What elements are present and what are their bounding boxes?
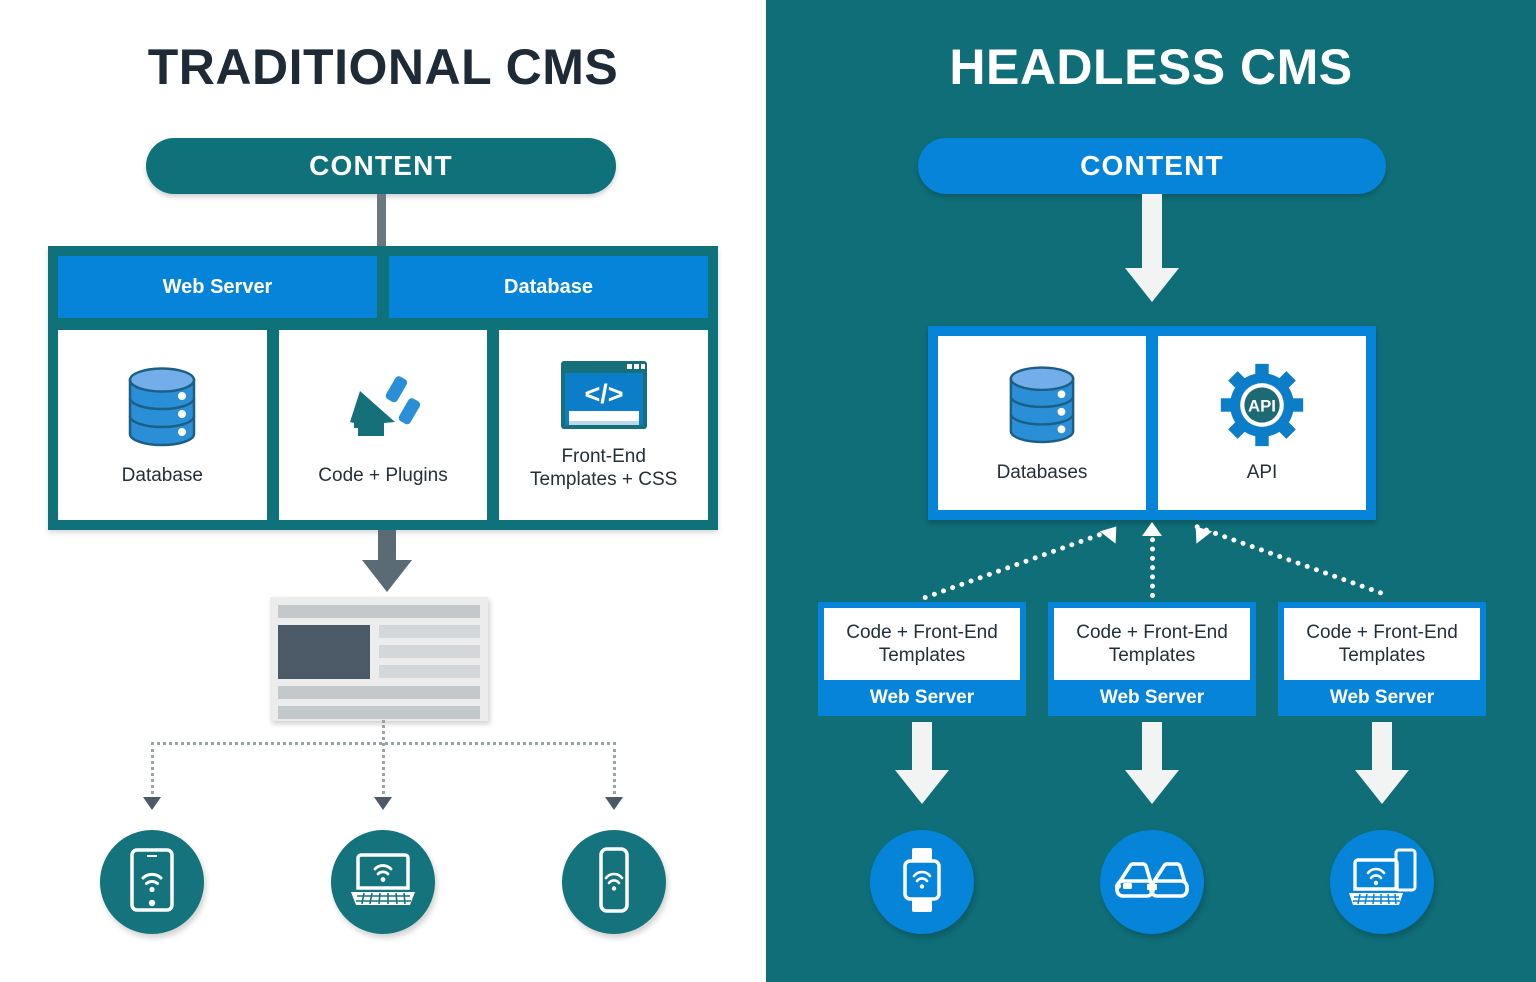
cell-database-label: Database — [118, 464, 207, 487]
api-gear-icon: API — [1220, 363, 1304, 453]
cell-database: Database — [58, 330, 267, 520]
cell-databases-label: Databases — [993, 461, 1092, 484]
web-server-1-templates: Code + Front-End Templates — [824, 608, 1020, 680]
cell-web-server: Web Server — [58, 256, 377, 318]
cell-api: API API — [1158, 336, 1366, 510]
laptop-wifi-icon — [348, 851, 418, 914]
connector-content-to-stack — [377, 194, 386, 250]
dotted-branch-3 — [613, 742, 616, 800]
infographic-canvas: TRADITIONAL CMS HEADLESS CMS CONTENT Web… — [0, 0, 1536, 982]
api-gear-label: API — [1248, 396, 1276, 415]
arrow-ws2-to-device — [1098, 722, 1206, 812]
web-server-card-3: Code + Front-End Templates Web Server — [1278, 602, 1486, 716]
database-cylinder-icon — [125, 364, 199, 456]
headless-cms-title: HEADLESS CMS — [766, 40, 1536, 94]
dotted-arrowhead-ws2 — [1142, 522, 1162, 536]
arrow-content-to-api-stack — [1098, 194, 1206, 308]
dotted-line-ws2-to-api — [1150, 528, 1155, 598]
content-pill-traditional: CONTENT — [146, 138, 616, 194]
tablet-wifi-icon — [129, 848, 175, 917]
stack-bottom-row: Database Code + Plugins — [58, 330, 708, 520]
device-circle-phone — [562, 830, 666, 934]
web-server-3-templates: Code + Front-End Templates — [1284, 608, 1480, 680]
traditional-stack-box: Web Server Database Database — [48, 246, 718, 530]
code-window-icon: </> — [559, 359, 649, 437]
cell-api-label: API — [1243, 461, 1282, 484]
stack-top-row: Web Server Database — [58, 256, 708, 318]
content-pill-headless: CONTENT — [918, 138, 1386, 194]
cell-code-plugins: Code + Plugins — [279, 330, 488, 520]
dotted-arrowhead-3 — [605, 797, 623, 810]
web-server-2-templates: Code + Front-End Templates — [1054, 608, 1250, 680]
laptop-phone-wifi-icon — [1346, 848, 1418, 917]
smart-glasses-icon — [1113, 857, 1191, 908]
cell-database-header: Database — [389, 256, 708, 318]
cell-code-plugins-label: Code + Plugins — [314, 464, 451, 487]
web-server-1-footer: Web Server — [824, 680, 1020, 716]
dotted-branch-1 — [151, 742, 154, 800]
web-server-3-footer: Web Server — [1284, 680, 1480, 716]
smartwatch-wifi-icon — [901, 846, 943, 919]
plug-icon — [340, 364, 426, 456]
headless-stack-row: Databases — [938, 336, 1366, 510]
dotted-branch-2 — [382, 720, 385, 800]
device-circle-laptop-phone — [1330, 830, 1434, 934]
device-circle-tablet — [100, 830, 204, 934]
dotted-arrowhead-1 — [143, 797, 161, 810]
cell-frontend-templates-label: Front-End Templates + CSS — [526, 445, 681, 491]
cell-databases: Databases — [938, 336, 1146, 510]
device-circle-smart-glasses — [1100, 830, 1204, 934]
cell-frontend-templates: </> Front-End Templates + CSS — [499, 330, 708, 520]
web-server-card-2: Code + Front-End Templates Web Server — [1048, 602, 1256, 716]
dotted-arrowhead-2 — [374, 797, 392, 810]
headless-stack-box: Databases — [928, 326, 1376, 520]
device-circle-laptop — [331, 830, 435, 934]
arrow-ws1-to-device — [868, 722, 976, 812]
phone-wifi-icon — [598, 847, 630, 918]
webpage-wireframe-icon — [270, 597, 488, 721]
database-cylinder-icon — [1006, 363, 1078, 453]
arrow-ws3-to-device — [1328, 722, 1436, 812]
arrow-stack-to-webpage — [333, 530, 441, 594]
device-circle-smartwatch — [870, 830, 974, 934]
web-server-card-1: Code + Front-End Templates Web Server — [818, 602, 1026, 716]
web-server-2-footer: Web Server — [1054, 680, 1250, 716]
svg-text:</>: </> — [584, 379, 623, 409]
traditional-cms-title: TRADITIONAL CMS — [0, 40, 766, 94]
